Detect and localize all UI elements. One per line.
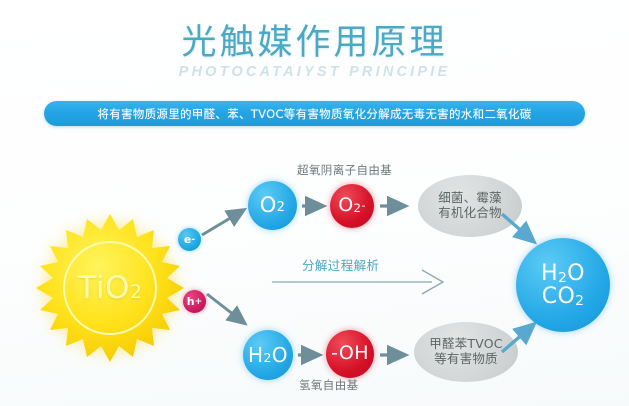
hole-charge: + (195, 297, 203, 307)
molecule-water-sub: 2 (264, 351, 272, 364)
molecule-water-label: H (248, 345, 263, 366)
result-line2: CO2 (541, 285, 585, 308)
result-line1-sub: 2 (558, 270, 567, 286)
hole-label: h (187, 295, 195, 308)
catalyst-sun: TiO2 (34, 212, 186, 364)
molecule-superoxide-label: O (338, 196, 353, 216)
catalyst-formula: TiO2 (63, 241, 157, 335)
result-line2-sub: 2 (575, 293, 584, 309)
result-line1-tail: O (567, 261, 585, 286)
molecule-superoxide: O2- (330, 184, 374, 228)
molecule-superoxide-sub: 2 (354, 202, 362, 214)
page-title: 光触媒作用原理 (0, 24, 629, 63)
photocatalyst-principle-infographic: 光触媒作用原理 PHOTOCATAIYST PRINCIPIE 将有害物质源里的… (0, 0, 629, 406)
caption-process: 分解过程解析 (302, 255, 379, 274)
molecule-water-tail: O (272, 345, 288, 366)
result-line1-main: H (541, 261, 558, 286)
arrow-hole-to-water (203, 290, 255, 330)
molecule-oxygen-label: O (260, 194, 277, 216)
summary-banner-text: 将有害物质源里的甲醛、苯、TVOC等有害物质氧化分解成无毒无害的水和二氧化碳 (97, 106, 531, 122)
catalyst-formula-sub: 2 (130, 281, 143, 303)
target-bacteria-line2: 有机化合物 (438, 206, 502, 221)
molecule-hydroxyl: -OH (326, 330, 374, 378)
arrow-superoxide-to-bacteria (379, 198, 411, 214)
molecule-oxygen: O2 (248, 181, 297, 230)
hole-badge: h+ (183, 290, 206, 313)
target-bacteria-line1: 细菌、霉藻 (438, 191, 502, 206)
electron-label: e (184, 233, 191, 246)
arrow-oxygen-to-superoxide (301, 198, 329, 214)
arrow-hydroxyl-to-pollutant (379, 347, 411, 363)
result-line2-main: CO (542, 284, 575, 309)
summary-banner: 将有害物质源里的甲醛、苯、TVOC等有害物质氧化分解成无毒无害的水和二氧化碳 (44, 101, 585, 126)
electron-badge: e- (178, 228, 201, 251)
molecule-oxygen-sub: 2 (277, 201, 286, 215)
catalyst-formula-main: TiO (77, 270, 130, 306)
molecule-hydroxyl-label: -OH (331, 344, 369, 364)
arrow-water-to-hydroxyl (297, 347, 325, 363)
target-pollutant-line1: 甲醛苯TVOC (429, 337, 502, 352)
electron-charge: - (191, 235, 195, 245)
caption-hydroxyl-radical: 氢氧自由基 (299, 377, 359, 393)
molecule-superoxide-sup: - (361, 200, 365, 212)
target-bacteria: 细菌、霉藻 有机化合物 (418, 175, 522, 237)
target-pollutant-line2: 等有害物质 (434, 352, 498, 367)
molecule-water: H2O (243, 330, 293, 380)
page-subtitle: PHOTOCATAIYST PRINCIPIE (0, 64, 629, 80)
target-pollutant: 甲醛苯TVOC 等有害物质 (414, 322, 518, 382)
result-line1: H2O (541, 262, 585, 285)
title-block: 光触媒作用原理 PHOTOCATAIYST PRINCIPIE (0, 24, 629, 80)
caption-superoxide-radical: 超氧阴离子自由基 (297, 162, 392, 178)
result-products: H2O CO2 (516, 238, 610, 332)
